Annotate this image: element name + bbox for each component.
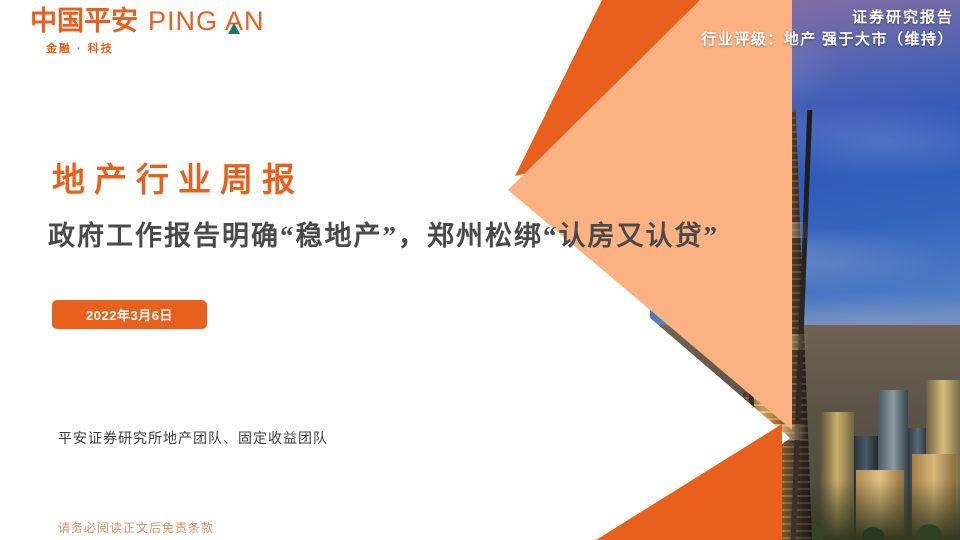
logo-english-label: PING AN (148, 6, 265, 36)
pingan-logo: 中国平安 PING AN 金融 · 科技 (30, 8, 290, 56)
logo-english-text: PING AN (148, 8, 265, 35)
date-badge: 2022年3月6日 (52, 300, 207, 329)
author-teams: 平安证券研究所地产团队、固定收益团队 (58, 428, 328, 448)
tower-spire (762, 72, 788, 114)
page-title: 地产行业周报 (52, 153, 304, 201)
logo-primary-row: 中国平安 PING AN (30, 8, 290, 35)
tower-light-band (742, 222, 808, 238)
page-subtitle: 政府工作报告明确“稳地产”，郑州松绑“认房又认贷” (48, 214, 719, 253)
footer-disclaimer: 请务必阅读正文后免责条款 (58, 519, 214, 536)
supertall-tower (732, 72, 818, 540)
green-triangle-icon (228, 23, 240, 34)
header-right-block: 证券研究报告 行业评级：地产 强于大市（维持） (701, 8, 954, 52)
skyline-photo (650, 0, 960, 540)
industry-rating-label: 行业评级：地产 强于大市（维持） (701, 30, 954, 52)
logo-chinese-text: 中国平安 (30, 8, 138, 35)
tower-light-band (742, 334, 808, 350)
report-type-label: 证券研究报告 (701, 8, 954, 30)
slide-cover: 中国平安 PING AN 金融 · 科技 证券研究报告 行业评级：地产 强于大市… (0, 0, 960, 540)
logo-tagline: 金融 · 科技 (46, 40, 290, 56)
tower-light-band (742, 424, 808, 440)
